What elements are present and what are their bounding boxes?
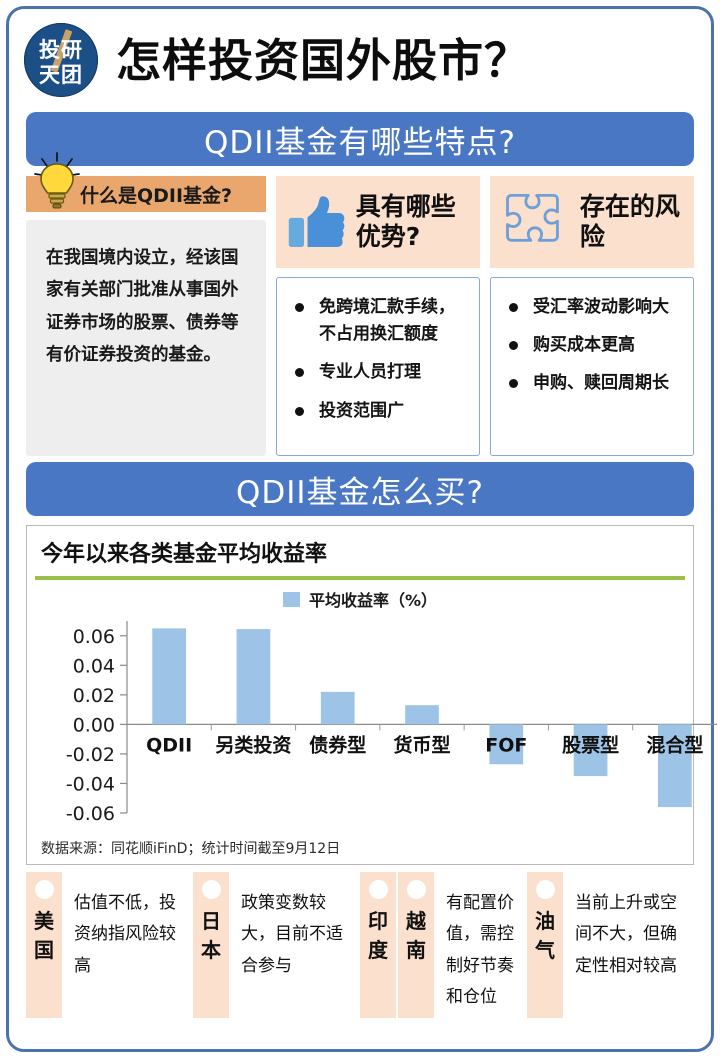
svg-text:-0.04: -0.04	[66, 773, 115, 795]
note-tags: 美国	[26, 872, 64, 1018]
section-banner-howtobuy: QDII基金怎么买?	[26, 462, 694, 516]
note-tag-label: 日本	[193, 907, 229, 965]
svg-text:-0.02: -0.02	[66, 744, 115, 766]
risks-body: 受汇率波动影响大 购买成本更高 申购、赎回周期长	[490, 277, 694, 456]
puzzle-piece-icon	[500, 182, 570, 262]
note-tag-label: 油气	[527, 907, 563, 965]
advantages-body: 免跨境汇款手续，不占用换汇额度 专业人员打理 投资范围广	[276, 277, 480, 456]
advantages-heading: 具有哪些优势?	[356, 192, 470, 253]
legend-swatch	[283, 592, 300, 607]
definition-card: 什么是QDII基金? 在我国境内设立，经该国家有关部门批准从事国外证券市场的股票…	[26, 176, 266, 456]
risks-heading: 存在的风险	[580, 192, 684, 253]
section-banner-features: QDII基金有哪些特点?	[26, 112, 694, 166]
note-text: 当前上升或空间不大，但确定性相对较高	[565, 872, 694, 1018]
note-tag-label: 印度	[360, 907, 396, 965]
brand-logo: 投研 天团	[24, 23, 98, 97]
note-tag-label: 美国	[26, 907, 62, 965]
list-item: 投资范围广	[291, 398, 469, 425]
note-text: 估值不低，投资纳指风险较高	[64, 872, 193, 1018]
risks-header: 存在的风险	[490, 176, 694, 268]
chart-source: 数据来源：同花顺iFinD；统计时间截至9月12日	[41, 838, 340, 858]
chart-title: 今年以来各类基金平均收益率	[27, 526, 693, 576]
chart-card: 今年以来各类基金平均收益率 平均收益率（%） 0.060.040.020.00-…	[26, 525, 694, 865]
bullet-dot-icon	[536, 880, 555, 899]
note-tag: 越南	[398, 872, 434, 1018]
note-item: 日本 政策变数较大，目前不适合参与	[193, 872, 360, 1018]
svg-text:混合型: 混合型	[646, 733, 703, 756]
note-tag: 美国	[26, 872, 62, 1018]
note-item: 印度 越南 有配置价值，需控制好节奏和仓位	[360, 872, 527, 1018]
svg-text:FOF: FOF	[485, 734, 527, 756]
list-item: 免跨境汇款手续，不占用换汇额度	[291, 294, 469, 348]
svg-text:货币型: 货币型	[393, 733, 450, 756]
market-notes-row: 美国 估值不低，投资纳指风险较高 日本 政策变数较大，目前不适合参与	[26, 872, 694, 1018]
features-row: 什么是QDII基金? 在我国境内设立，经该国家有关部门批准从事国外证券市场的股票…	[26, 176, 694, 456]
bullet-dot-icon	[369, 880, 388, 899]
note-text: 政策变数较大，目前不适合参与	[231, 872, 360, 1018]
legend-label: 平均收益率（%）	[309, 587, 437, 611]
note-tag: 印度	[360, 872, 396, 1018]
list-item: 专业人员打理	[291, 359, 469, 386]
page-header: 投研 天团 怎样投资国外股市？	[18, 14, 702, 106]
advantages-list: 免跨境汇款手续，不占用换汇额度 专业人员打理 投资范围广	[291, 294, 469, 425]
logo-line2: 天团	[24, 59, 98, 89]
svg-text:-0.06: -0.06	[66, 803, 115, 825]
definition-body: 在我国境内设立，经该国家有关部门批准从事国外证券市场的股票、债券等有价证券投资的…	[26, 220, 266, 456]
bar-chart-svg: 0.060.040.020.00-0.02-0.04-0.06QDII另类投资债…	[27, 613, 720, 825]
thumbs-up-icon	[286, 182, 346, 262]
definition-heading: 什么是QDII基金?	[80, 181, 232, 208]
risks-list: 受汇率波动影响大 购买成本更高 申购、赎回周期长	[505, 294, 683, 398]
svg-text:0.00: 0.00	[73, 714, 115, 736]
note-tag-label: 越南	[398, 907, 434, 965]
note-item: 油气 当前上升或空间不大，但确定性相对较高	[527, 872, 694, 1018]
bullet-dot-icon	[407, 880, 426, 899]
svg-text:债券型: 债券型	[309, 733, 366, 756]
page-title: 怎样投资国外股市？	[116, 38, 530, 83]
note-tags: 油气	[527, 872, 565, 1018]
list-item: 受汇率波动影响大	[505, 294, 683, 321]
lightbulb-icon	[34, 152, 80, 214]
svg-text:0.02: 0.02	[73, 685, 115, 707]
list-item: 申购、赎回周期长	[505, 370, 683, 397]
chart-divider	[35, 576, 685, 580]
risks-card: 存在的风险 受汇率波动影响大 购买成本更高 申购、赎回周期长	[490, 176, 694, 456]
note-tags: 日本	[193, 872, 231, 1018]
note-tag: 日本	[193, 872, 229, 1018]
note-item: 美国 估值不低，投资纳指风险较高	[26, 872, 193, 1018]
chart-legend: 平均收益率（%）	[27, 587, 693, 611]
advantages-card: 具有哪些优势? 免跨境汇款手续，不占用换汇额度 专业人员打理 投资范围广	[276, 176, 480, 456]
bullet-dot-icon	[202, 880, 221, 899]
svg-text:QDII: QDII	[146, 734, 192, 756]
chart-plot-area: 0.060.040.020.00-0.02-0.04-0.06QDII另类投资债…	[27, 613, 693, 828]
infographic-page: 投研 天团 怎样投资国外股市？ QDII基金有哪些特点?	[0, 0, 720, 1058]
note-text: 有配置价值，需控制好节奏和仓位	[436, 872, 527, 1018]
list-item: 购买成本更高	[505, 332, 683, 359]
bullet-dot-icon	[35, 880, 54, 899]
svg-text:0.06: 0.06	[73, 626, 115, 648]
svg-text:0.04: 0.04	[73, 655, 115, 677]
advantages-header: 具有哪些优势?	[276, 176, 480, 268]
svg-text:股票型: 股票型	[562, 733, 619, 756]
svg-text:另类投资: 另类投资	[215, 733, 291, 756]
note-tags: 印度 越南	[360, 872, 436, 1018]
note-tag: 油气	[527, 872, 563, 1018]
definition-header: 什么是QDII基金?	[26, 176, 266, 212]
